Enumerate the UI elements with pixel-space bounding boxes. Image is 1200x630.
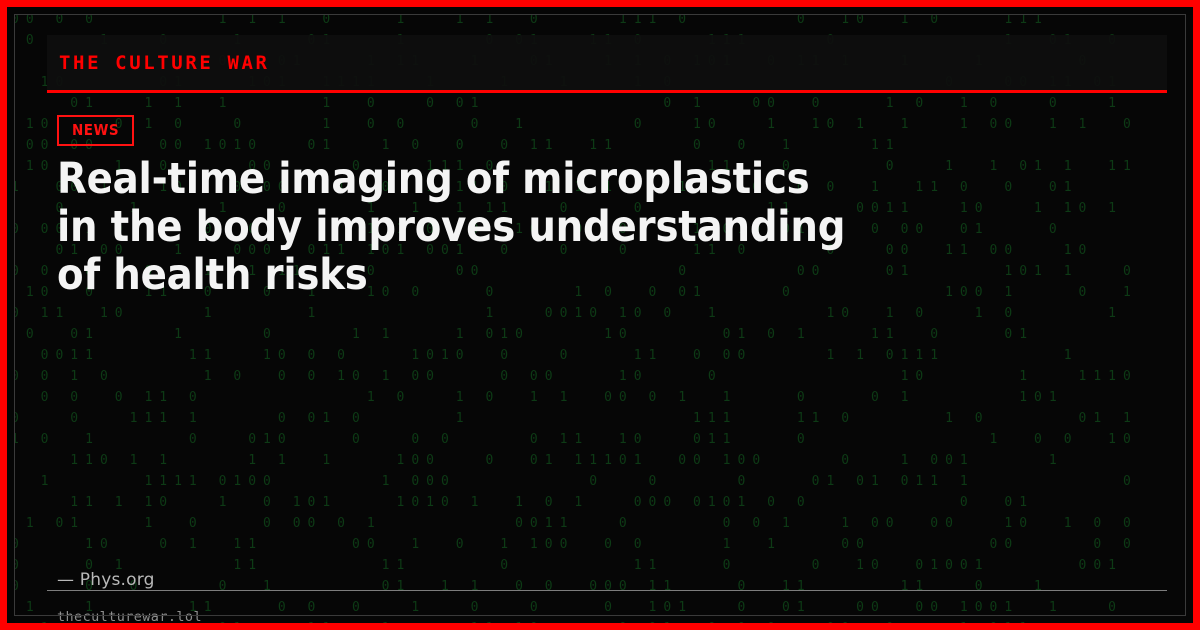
headline-line-3: of health risks — [57, 251, 857, 299]
badge-row: NEWS — [57, 115, 134, 146]
social-card: 00 0 0 1 1 1 0 1 1 1 0 111 0 0 10 1 0 11… — [0, 0, 1200, 630]
brand-title: THE CULTURE WAR — [47, 52, 270, 74]
card-content: THE CULTURE WAR NEWS Real-time imaging o… — [15, 15, 1199, 629]
footer-divider — [47, 590, 1167, 591]
headline-line-2: in the body improves understanding — [57, 203, 857, 251]
page-title: Real-time imaging of microplastics in th… — [57, 155, 857, 299]
headline-line-1: Real-time imaging of microplastics — [57, 155, 857, 203]
brand-header: THE CULTURE WAR — [47, 35, 1167, 93]
source-attribution: — Phys.org — [57, 570, 155, 590]
site-url: theculturewar.lol — [57, 609, 202, 625]
status-badge-news[interactable]: NEWS — [57, 115, 134, 146]
